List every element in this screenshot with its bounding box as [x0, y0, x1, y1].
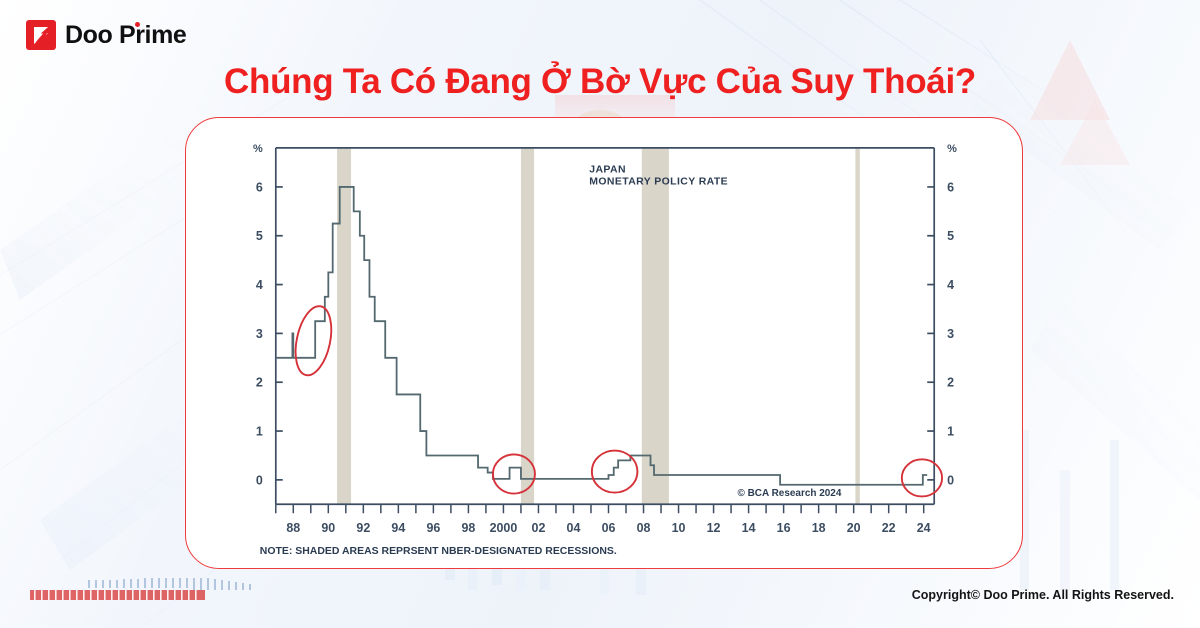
xtick-label-16: 20 [847, 521, 861, 535]
brand-name-text: Doo Prime [65, 21, 186, 49]
japan-monetary-policy-rate-chart: 00112233445566%%889092949698200002040608… [186, 118, 1022, 568]
xtick-label-10: 08 [637, 521, 651, 535]
ytick-label-right-5: 5 [947, 229, 954, 243]
ytick-label-right-0: 0 [947, 473, 954, 487]
xtick-label-15: 18 [812, 521, 826, 535]
logo-i-dot-icon [135, 22, 140, 27]
chart-title-line2: MONETARY POLICY RATE [589, 176, 728, 187]
chart-note: NOTE: SHADED AREAS REPRSENT NBER-DESIGNA… [260, 546, 617, 557]
chart-source-credit: © BCA Research 2024 [737, 488, 841, 499]
recession-band-2 [642, 148, 669, 504]
brand-name: Doo Prime [65, 23, 186, 48]
recession-band-3 [855, 148, 859, 504]
xtick-label-5: 98 [461, 521, 475, 535]
chart-title-line1: JAPAN [589, 164, 626, 175]
ytick-label-left-3: 3 [256, 327, 263, 341]
xtick-label-7: 02 [532, 521, 546, 535]
ytick-label-right-1: 1 [947, 425, 954, 439]
xtick-label-9: 06 [602, 521, 616, 535]
xtick-label-4: 96 [426, 521, 440, 535]
ytick-label-left-6: 6 [256, 180, 263, 194]
xtick-label-8: 04 [567, 521, 581, 535]
xtick-label-17: 22 [882, 521, 896, 535]
ytick-label-left-4: 4 [256, 278, 263, 292]
y-unit-label-right: % [947, 143, 957, 155]
ytick-label-right-2: 2 [947, 376, 954, 390]
recession-band-1 [521, 148, 534, 504]
chart-card: 00112233445566%%889092949698200002040608… [185, 117, 1023, 569]
xtick-label-11: 10 [672, 521, 686, 535]
page-title: Chúng Ta Có Đang Ở Bờ Vực Của Suy Thoái? [0, 62, 1200, 102]
annotation-ellipse-rate-hike-1989 [290, 303, 337, 379]
ytick-label-left-1: 1 [256, 425, 263, 439]
ytick-label-left-0: 0 [256, 473, 263, 487]
ytick-label-right-3: 3 [947, 327, 954, 341]
xtick-label-2: 92 [356, 521, 370, 535]
xtick-label-18: 24 [917, 521, 931, 535]
xtick-label-1: 90 [321, 521, 335, 535]
xtick-label-0: 88 [286, 521, 300, 535]
series-line-0 [276, 187, 927, 485]
doo-prime-logo-icon [26, 20, 56, 50]
xtick-label-14: 16 [777, 521, 791, 535]
brand-header: Doo Prime [26, 20, 186, 50]
footer-copyright: Copyright© Doo Prime. All Rights Reserve… [912, 588, 1174, 602]
xtick-label-3: 94 [391, 521, 405, 535]
xtick-label-13: 14 [742, 521, 756, 535]
ytick-label-right-6: 6 [947, 180, 954, 194]
ytick-label-right-4: 4 [947, 278, 954, 292]
footer-decoration-bars [30, 572, 295, 606]
xtick-label-12: 12 [707, 521, 721, 535]
y-unit-label-left: % [253, 143, 263, 155]
xtick-label-6: 2000 [490, 521, 518, 535]
ytick-label-left-5: 5 [256, 229, 263, 243]
ytick-label-left-2: 2 [256, 376, 263, 390]
